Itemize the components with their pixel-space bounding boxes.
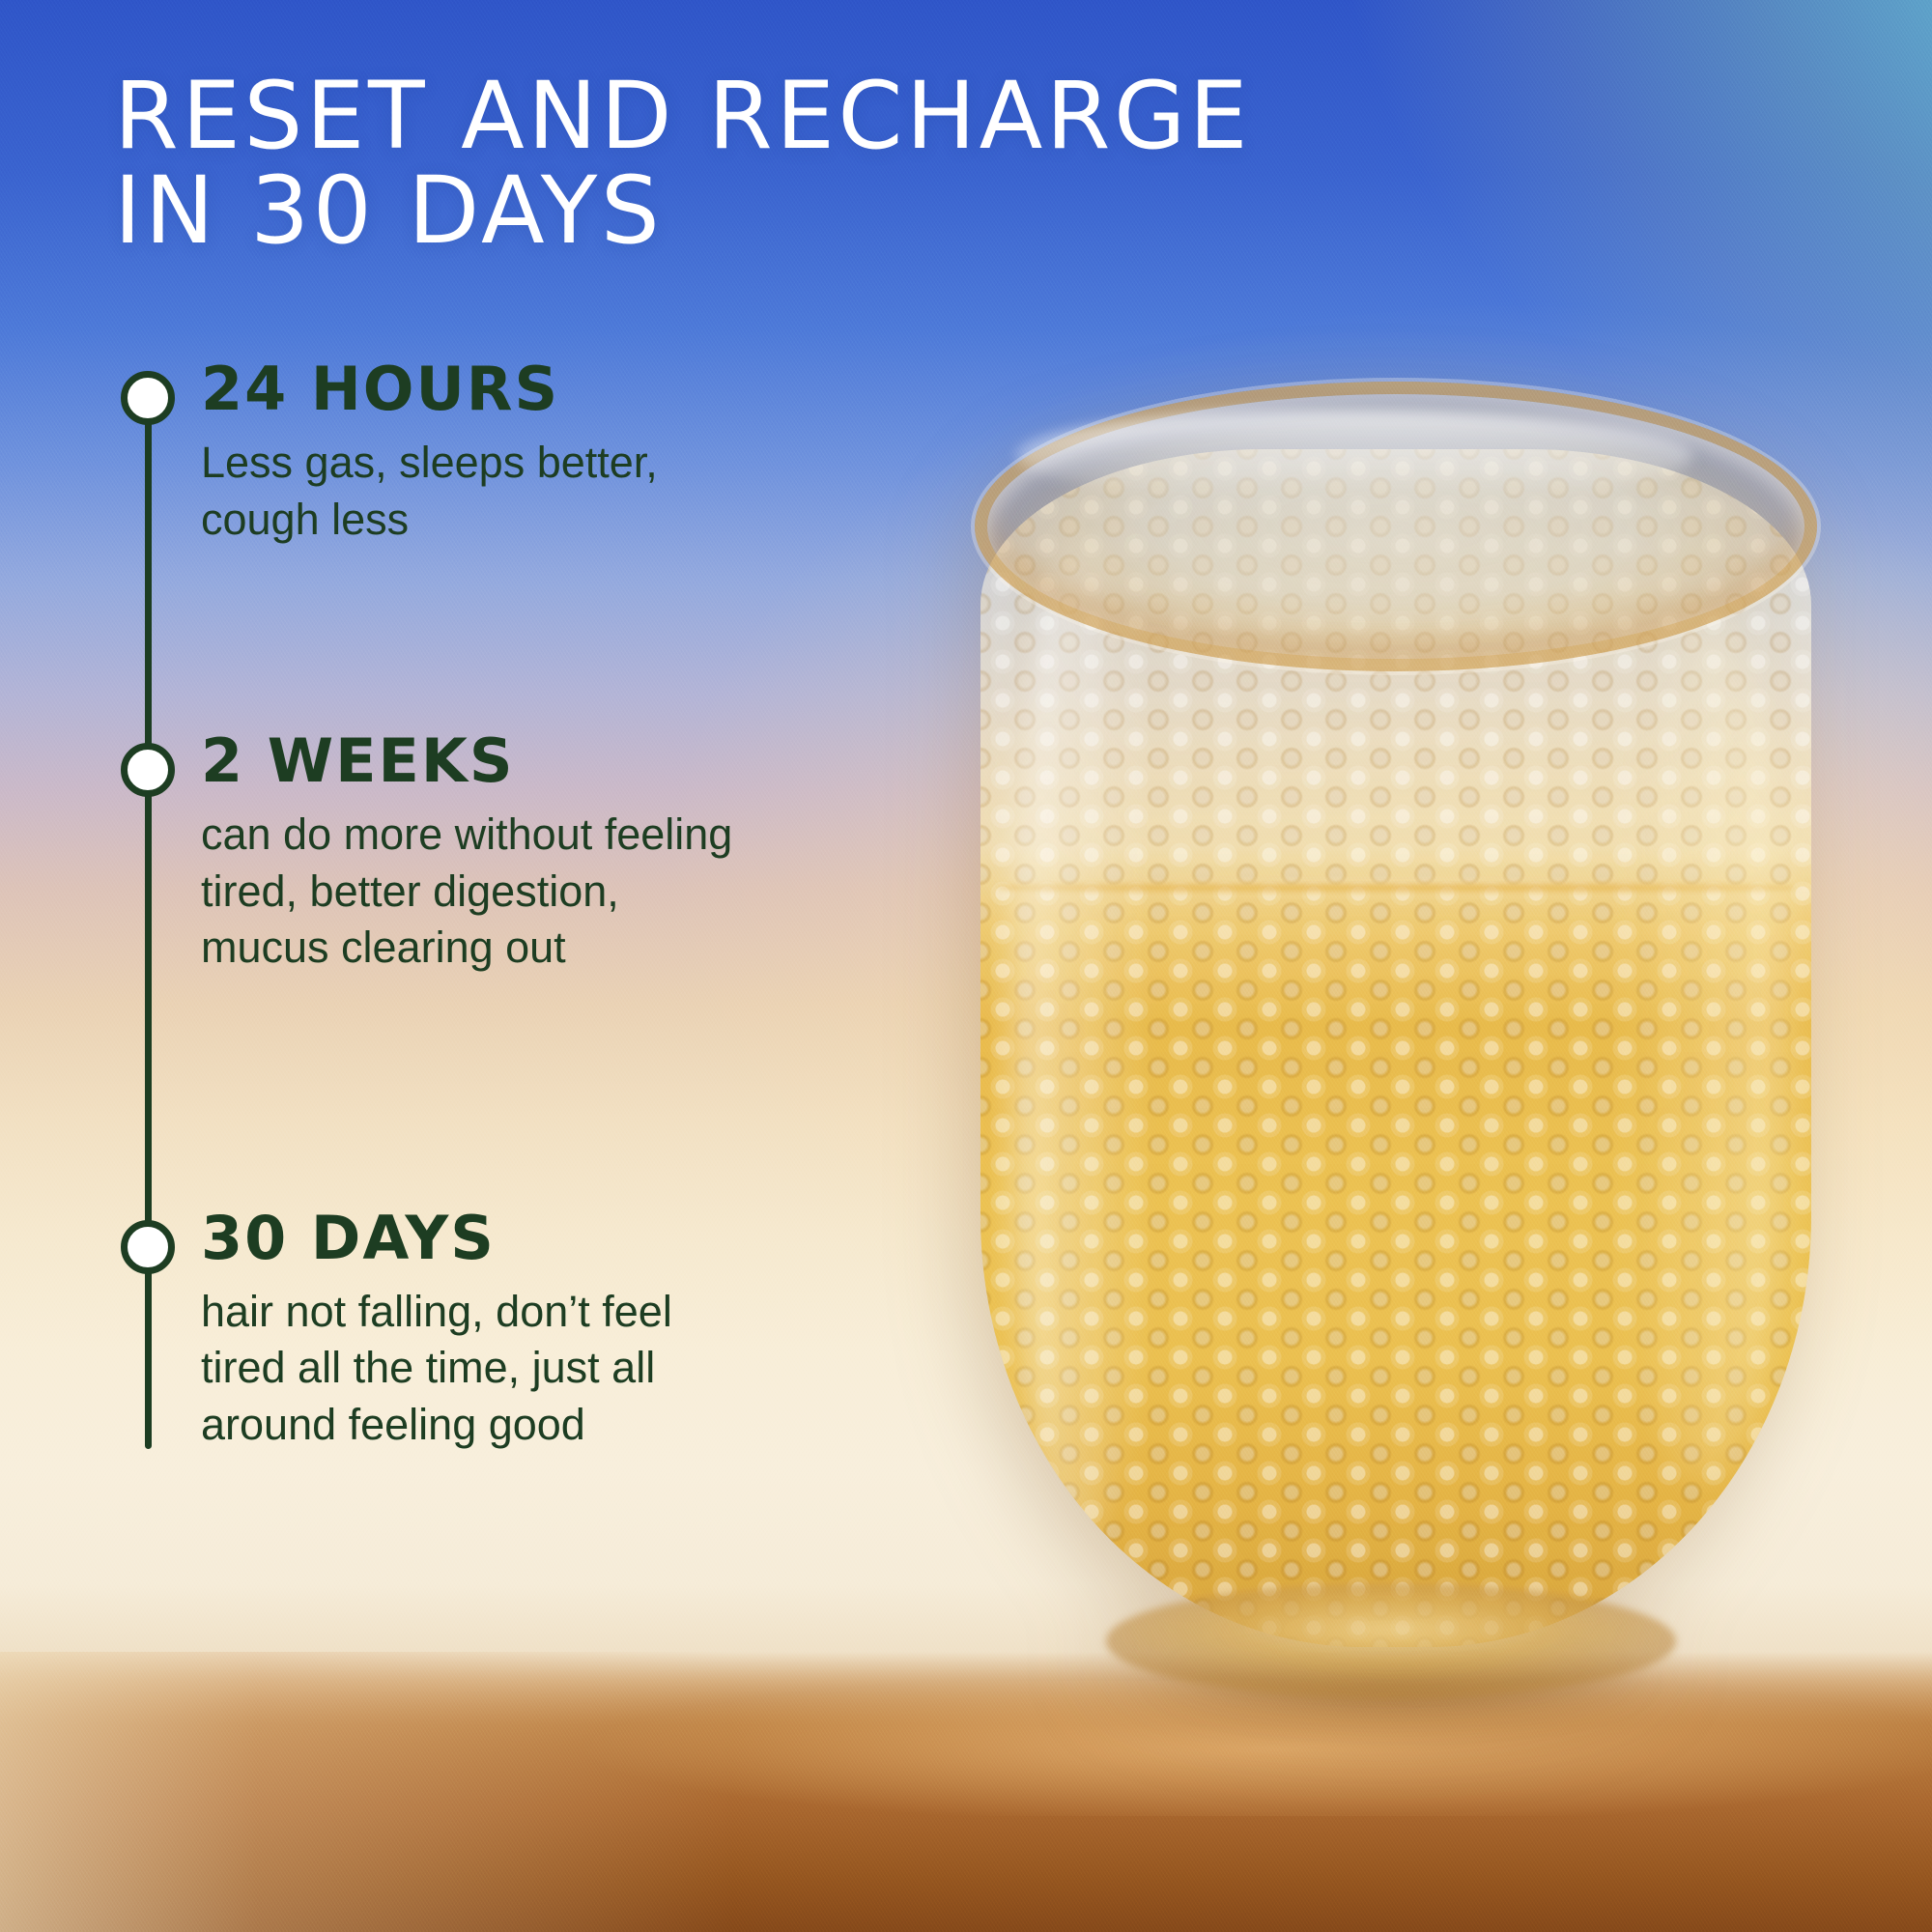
timeline-description: can do more without feeling tired, bette… — [201, 807, 742, 977]
timeline-dot-icon — [121, 743, 175, 797]
timeline-heading: 2 WEEKS — [201, 731, 848, 791]
title-line-1: RESET AND RECHARGE — [114, 70, 1408, 164]
timeline-item-2-weeks: 2 WEEKS can do more without feeling tire… — [114, 731, 848, 977]
timeline-item-24-hours: 24 HOURS Less gas, sleeps better, cough … — [114, 359, 848, 548]
timeline-dot-icon — [121, 1220, 175, 1274]
timeline-description: Less gas, sleeps better, cough less — [201, 435, 742, 548]
poster-canvas: RESET AND RECHARGE IN 30 DAYS 24 HOURS L… — [0, 0, 1932, 1932]
benefits-timeline: 24 HOURS Less gas, sleeps better, cough … — [114, 348, 848, 1453]
timeline-item-30-days: 30 DAYS hair not falling, don’t feel tir… — [114, 1208, 848, 1454]
content-layer: RESET AND RECHARGE IN 30 DAYS 24 HOURS L… — [0, 0, 1932, 1932]
page-title: RESET AND RECHARGE IN 30 DAYS — [114, 70, 1408, 259]
timeline-heading: 24 HOURS — [201, 359, 848, 419]
title-line-2: IN 30 DAYS — [114, 164, 1408, 259]
timeline-dot-icon — [121, 371, 175, 425]
timeline-description: hair not falling, don’t feel tired all t… — [201, 1284, 742, 1454]
timeline-heading: 30 DAYS — [201, 1208, 848, 1268]
